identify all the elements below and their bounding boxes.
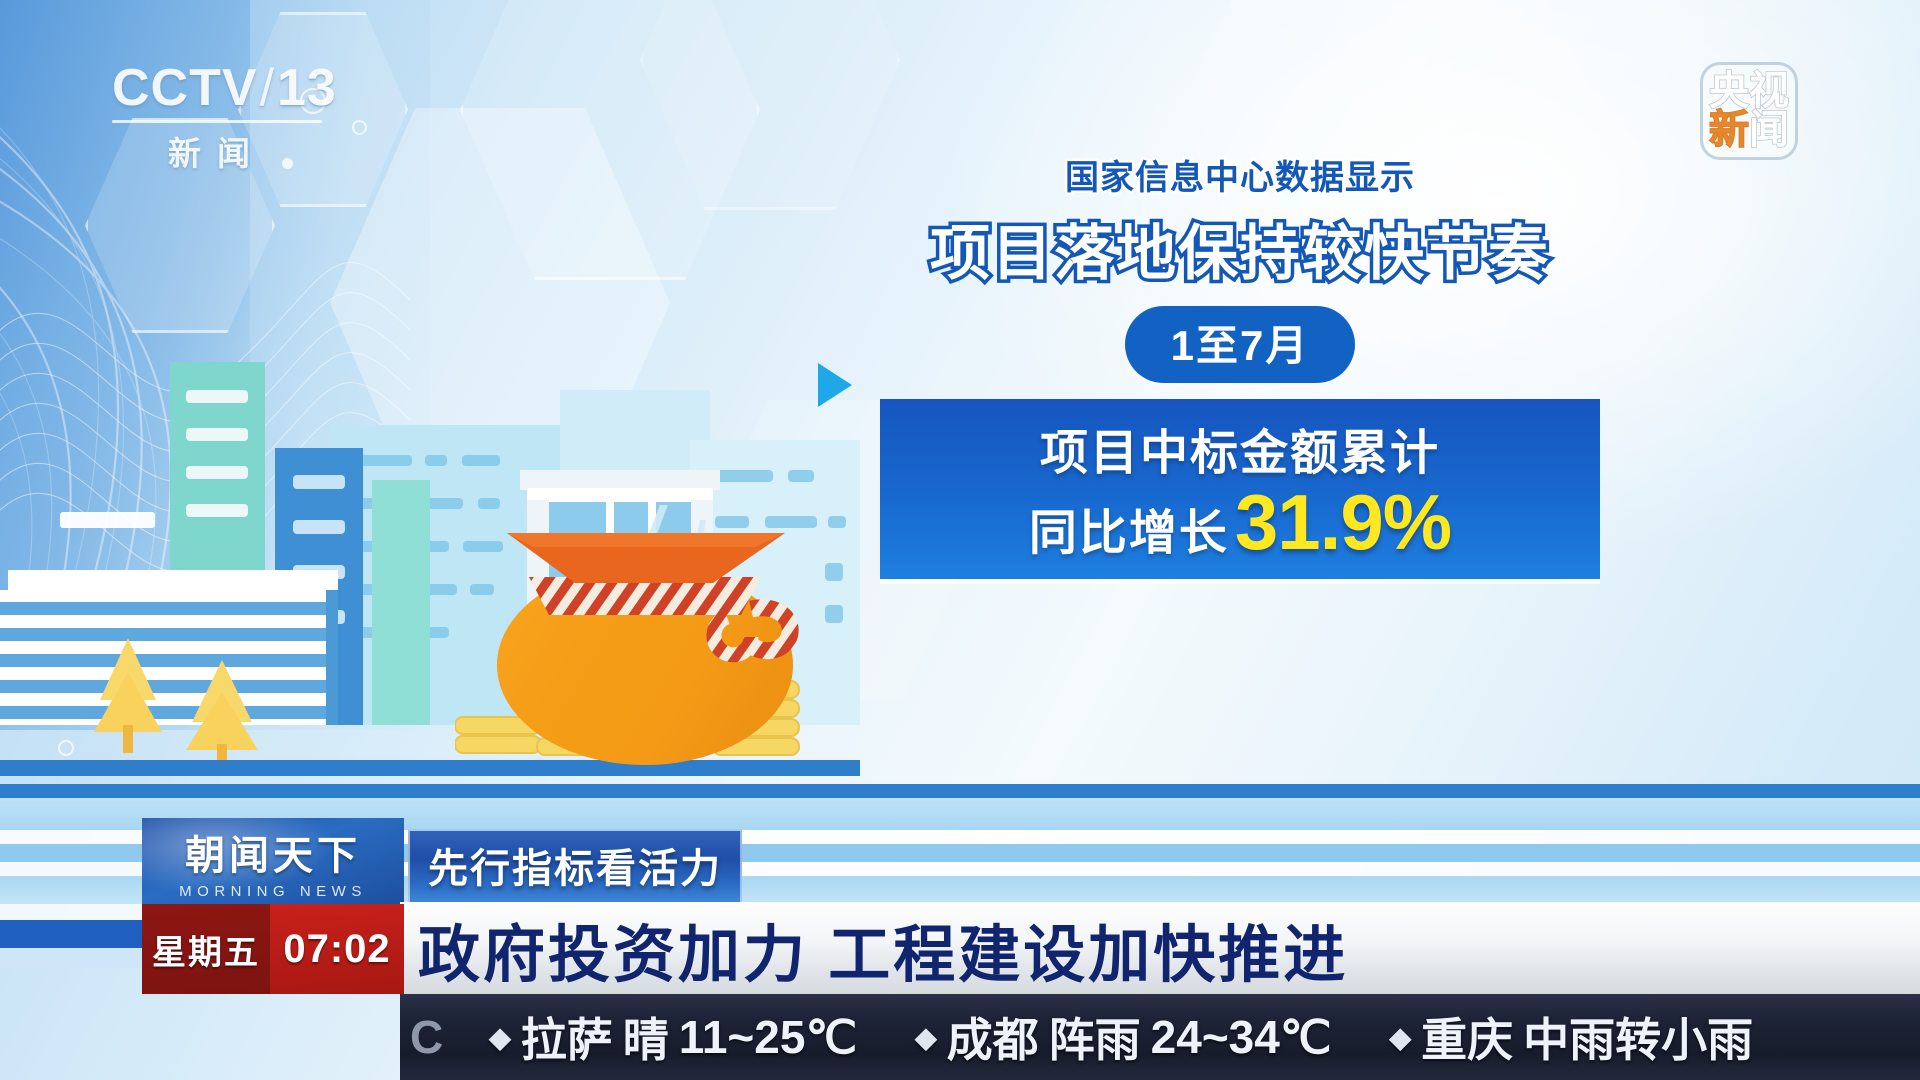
infographic-kicker: 国家信息中心数据显示 xyxy=(880,150,1600,199)
topic-tag-label: 先行指标看活力 xyxy=(428,847,722,891)
program-name-cn: 朝闻天下 xyxy=(185,823,361,881)
cctv-logo-wordmark: CCTV xyxy=(112,58,258,118)
topic-tag: 先行指标看活力 xyxy=(408,829,742,904)
weather-city-1: 成都 xyxy=(947,1004,1039,1070)
lower-third: 先行指标看活力 朝闻天下 MORNING NEWS 政府投资加力 工程建设加快推… xyxy=(0,818,1920,1080)
weather-city-0: 拉萨 xyxy=(521,1004,613,1070)
account-logo-line1: 央视 xyxy=(1709,72,1789,111)
headline-text: 政府投资加力 工程建设加快推进 xyxy=(400,904,1348,994)
cctv-logo-slash: / xyxy=(260,58,275,118)
weather-ticker: C ◆ 拉萨 晴 11~25℃ ◆ 成都 阵雨 24~34℃ ◆ 重庆 中雨转小… xyxy=(400,994,1920,1080)
weather-item-1: ◆ 成都 阵雨 24~34℃ xyxy=(915,1004,1389,1070)
broadcast-screen: CCTV / 13 新闻 央视 新闻 国家信息中心数据显示 项目落地保持较快节奏… xyxy=(0,0,1920,1080)
weather-item-0: ◆ 拉萨 晴 11~25℃ xyxy=(489,1004,915,1070)
time-label: 07:02 xyxy=(270,904,404,994)
account-logo-char-orange: 新 xyxy=(1709,108,1749,152)
diamond-bullet-icon: ◆ xyxy=(1390,1021,1412,1054)
stat-value: 31.9% xyxy=(1235,485,1451,559)
cctv-logo-subtitle: 新闻 xyxy=(112,127,322,175)
infographic-stat-box: 项目中标金额累计 同比增长 31.9% xyxy=(880,399,1600,579)
weather-temp-0: 11~25℃ xyxy=(679,1010,857,1064)
cctv-news-account-logo: 央视 新闻 xyxy=(1700,62,1798,160)
weather-city-2: 重庆 xyxy=(1421,1004,1513,1070)
cctv-logo-number: 13 xyxy=(277,58,337,118)
diamond-bullet-icon: ◆ xyxy=(915,1021,937,1054)
stat-label-secondary: 同比增长 xyxy=(1029,493,1229,563)
program-brand-plate: 朝闻天下 MORNING NEWS xyxy=(142,818,404,904)
weather-condition-2: 中雨转小雨 xyxy=(1523,1004,1753,1070)
clock-plate: 星期五 07:02 xyxy=(142,904,404,994)
arrow-right-icon xyxy=(818,363,852,407)
cctv13-channel-logo: CCTV / 13 新闻 xyxy=(112,58,322,168)
account-logo-line2: 新闻 xyxy=(1709,111,1789,150)
weather-condition-1: 阵雨 xyxy=(1049,1004,1141,1070)
infographic-headline: 项目落地保持较快节奏 xyxy=(880,205,1600,292)
weather-item-2: ◆ 重庆 中雨转小雨 xyxy=(1390,1004,1812,1070)
decorative-circle-2 xyxy=(352,120,367,135)
account-logo-char-white: 闻 xyxy=(1749,108,1789,152)
stat-label-primary: 项目中标金额累计 xyxy=(908,413,1572,483)
money-bag-illustration xyxy=(455,517,835,767)
program-name-en: MORNING NEWS xyxy=(179,883,367,900)
infographic-period-badge: 1至7月 xyxy=(1125,306,1356,383)
weather-temp-1: 24~34℃ xyxy=(1151,1010,1332,1064)
diamond-bullet-icon: ◆ xyxy=(489,1021,511,1054)
weekday-label: 星期五 xyxy=(142,904,270,994)
ground-band xyxy=(0,784,1920,798)
infographic-text-block: 国家信息中心数据显示 项目落地保持较快节奏 1至7月 项目中标金额累计 同比增长… xyxy=(880,150,1600,579)
weather-condition-0: 晴 xyxy=(623,1004,669,1070)
weather-truncated-left: C xyxy=(400,1010,489,1064)
headline-bar: 政府投资加力 工程建设加快推进 xyxy=(400,902,1920,994)
cctv-logo-divider xyxy=(112,120,322,123)
